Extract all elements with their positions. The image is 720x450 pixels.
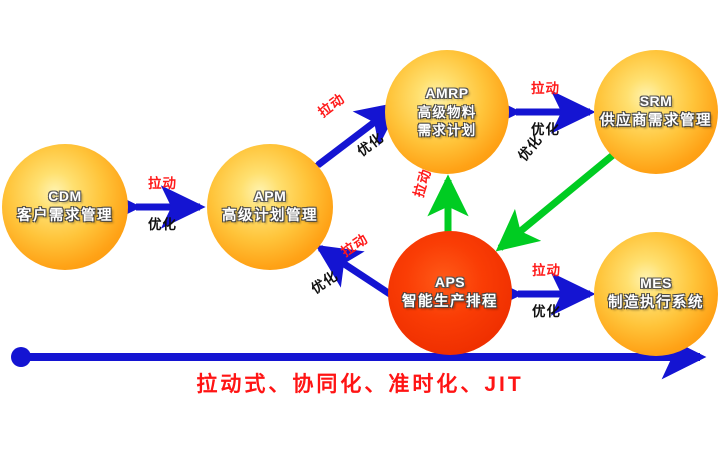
node-mes[interactable]: MES 制造执行系统 [594,232,718,356]
node-mes-code: MES [640,275,672,291]
label-aps-mes-optimize: 优化 [532,305,561,319]
node-amrp-name-line2: 需求计划 [418,122,477,140]
node-apm-code: APM [254,188,287,204]
node-amrp-code: AMRP [425,85,468,101]
timeline-caption: 拉动式、协同化、准时化、JIT [0,368,720,398]
label-cdm-apm-optimize: 优化 [148,218,177,232]
node-aps-name: 智能生产排程 [402,293,498,312]
node-srm-code: SRM [640,93,673,109]
node-mes-name: 制造执行系统 [608,294,704,313]
label-aps-mes-pull: 拉动 [532,264,561,278]
diagram-canvas: CDM 客户需求管理 APM 高级计划管理 AMRP 高级物料 需求计划 SRM… [0,0,720,450]
node-srm-name: 供应商需求管理 [600,112,712,131]
node-cdm-code: CDM [48,188,81,204]
node-amrp[interactable]: AMRP 高级物料 需求计划 [385,50,509,174]
node-cdm[interactable]: CDM 客户需求管理 [2,144,128,270]
timeline-arrow [11,347,700,367]
node-cdm-name: 客户需求管理 [17,207,113,226]
node-apm-name: 高级计划管理 [222,207,318,226]
node-aps[interactable]: APS 智能生产排程 [388,231,512,355]
node-apm[interactable]: APM 高级计划管理 [207,144,333,270]
label-amrp-srm-pull: 拉动 [531,82,560,96]
node-aps-code: APS [435,274,465,290]
label-cdm-apm-pull: 拉动 [148,177,177,191]
edge-srm-aps-green [500,155,613,248]
node-amrp-name-line1: 高级物料 [418,104,477,122]
node-srm[interactable]: SRM 供应商需求管理 [594,50,718,174]
